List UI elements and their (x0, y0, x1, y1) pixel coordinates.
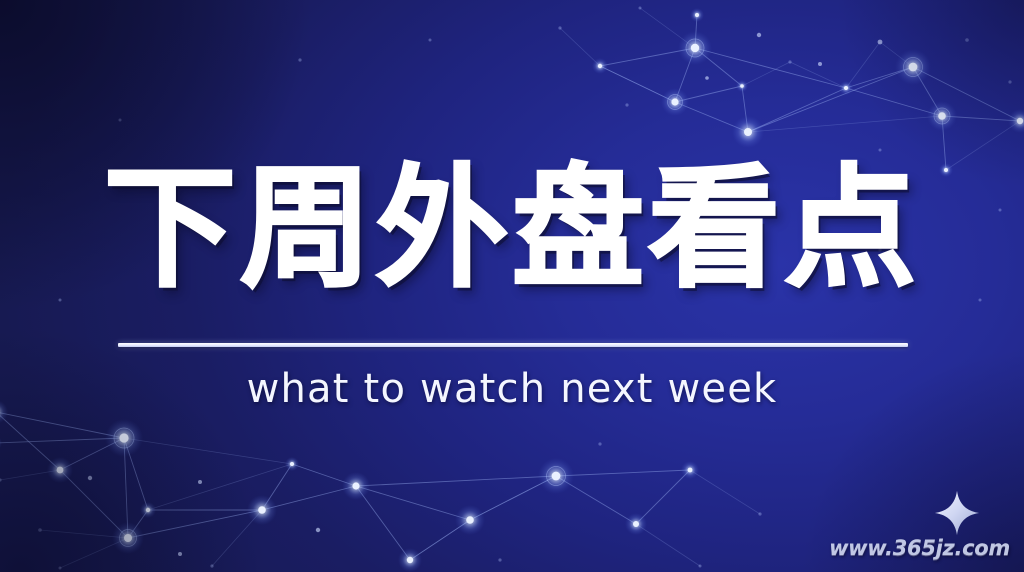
promo-banner: 下周外盘看点 what to watch next week www.365jz… (0, 0, 1024, 572)
watermark: www.365jz.com (860, 488, 1010, 566)
watermark-text: www.365jz.com (829, 536, 1010, 560)
page-title: 下周外盘看点 (104, 160, 920, 300)
network-lines-top-right (560, 8, 1020, 170)
network-nodes-bottom-left (0, 400, 762, 572)
title-container: 下周外盘看点 (0, 160, 1024, 300)
page-subtitle: what to watch next week (0, 366, 1024, 412)
divider-rule (118, 343, 908, 347)
four-point-sparkle-icon (934, 490, 980, 536)
network-lines-bottom-left (0, 412, 760, 568)
